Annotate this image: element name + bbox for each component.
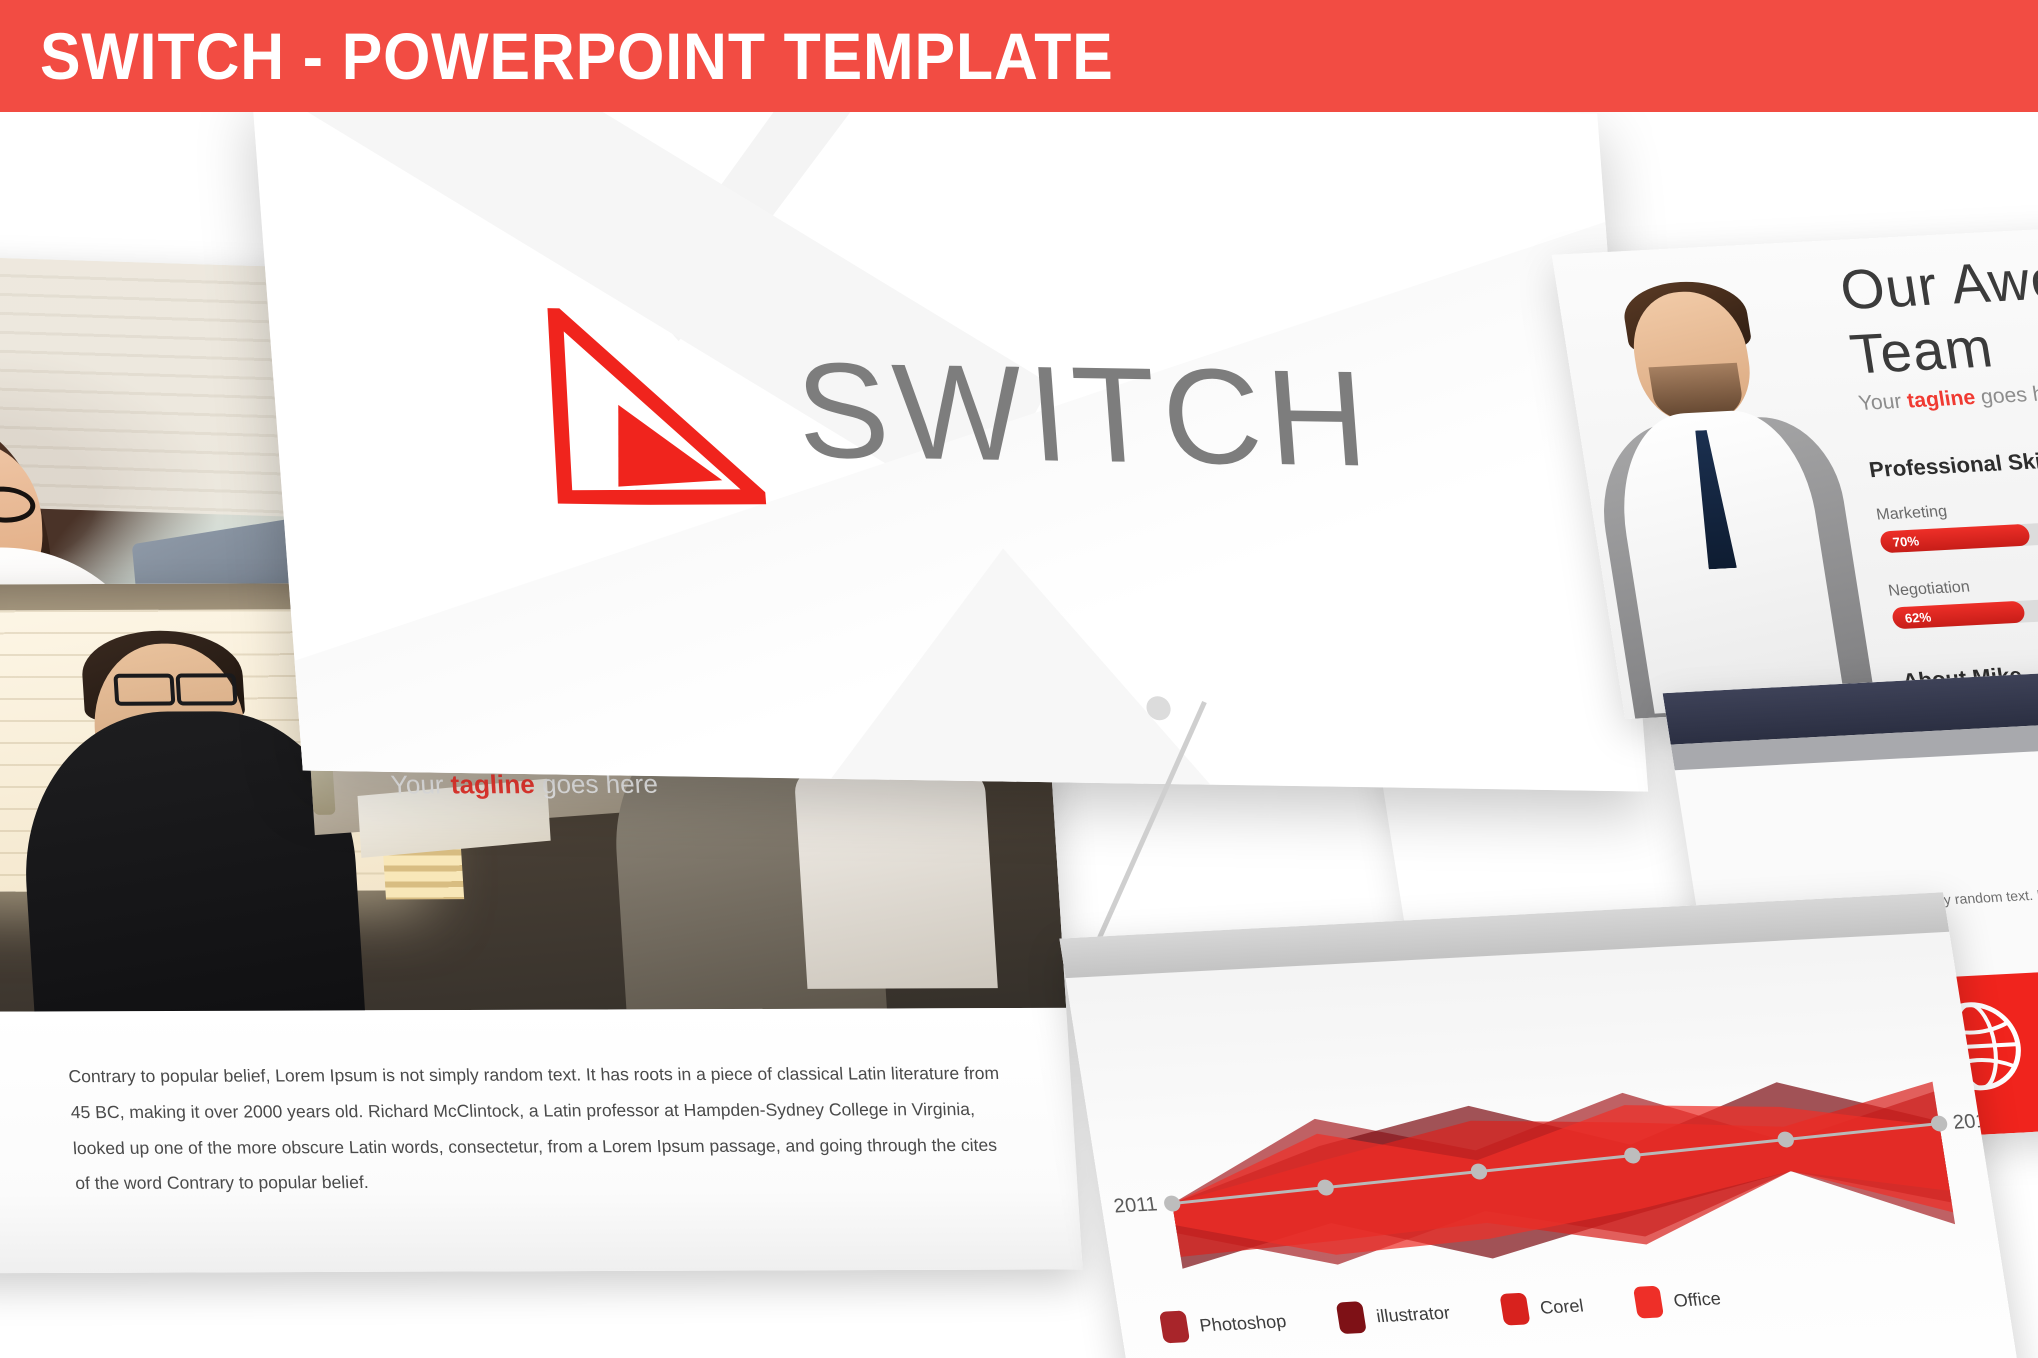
chart-legend-label: Corel: [1539, 1295, 1585, 1318]
photo-chair: [794, 769, 998, 989]
hero-logo-lockup: SWITCH: [539, 308, 1379, 516]
page-title: SWITCH - POWERPOINT TEMPLATE: [40, 18, 1114, 94]
chart-slide[interactable]: 20112016 PhotoshopillustratorCorelOffice…: [1059, 892, 2030, 1358]
photo-man-glasses: [114, 673, 244, 697]
hero-chevron-bottom: [581, 541, 1463, 791]
chart-legend-item[interactable]: Corel: [1500, 1290, 1586, 1326]
skill-label: Negotiation: [1887, 572, 2038, 601]
chart-legend-swatch: [1500, 1293, 1531, 1326]
chart-legend-label: Photoshop: [1198, 1311, 1288, 1336]
chart-legend-swatch: [1336, 1301, 1367, 1334]
team-tagline-prefix: Your: [1857, 390, 1909, 415]
team-slide-title: Our Awesome Team: [1836, 234, 2038, 387]
skill-percent: 70%: [1892, 533, 1920, 549]
skill-label: Marketing: [1875, 496, 2038, 525]
skill-row: Negotiation 62%: [1887, 572, 2038, 630]
team-skill-list: Marketing 70% Developer 52%: [1875, 483, 2038, 630]
about-tagline-prefix: Your: [390, 769, 452, 799]
chart-tick-label: 2011: [1112, 1194, 1159, 1218]
play-triangle-logo-icon: [539, 308, 767, 507]
skill-track: 62%: [1891, 596, 2038, 629]
area-chart[interactable]: 20112016: [1066, 932, 2001, 1304]
chart-legend-swatch: [1633, 1286, 1664, 1319]
team-tagline-highlight: tagline: [1905, 386, 1977, 412]
team-member-photo: [1567, 275, 1886, 719]
hero-title-slide[interactable]: SWITCH: [252, 112, 1648, 792]
header-banner: SWITCH - POWERPOINT TEMPLATE: [0, 0, 2038, 112]
chart-legend-label: illustrator: [1375, 1302, 1452, 1327]
team-skill-heading: Professional Skill: [1867, 433, 2038, 483]
team-tagline-suffix: goes here: [1973, 381, 2038, 409]
photo-woman-glasses: [0, 483, 42, 513]
services-slide-title: About Ser: [1718, 757, 2038, 844]
chart-legend-swatch: [1159, 1310, 1190, 1343]
hero-wordmark: SWITCH: [792, 342, 1377, 487]
team-slide[interactable]: 12 Our Awesome Team Your tagline goes he…: [1552, 215, 2038, 719]
skill-row: Marketing 70%: [1875, 496, 2038, 554]
chart-legend-label: Office: [1672, 1288, 1722, 1311]
skill-fill: 62%: [1891, 601, 2026, 630]
slide-showcase-stage: About Your tagline goes here Contrary to…: [0, 112, 2038, 1358]
about-slide-body: Contrary to popular belief, Lorem Ipsum …: [67, 1056, 1008, 1202]
skill-track: 70%: [1879, 520, 2038, 553]
chart-legend-item[interactable]: Office: [1633, 1283, 1723, 1319]
about-slide-caption: Contrary to popular belief, Lorem Ipsum …: [0, 1008, 1083, 1274]
area-chart-svg: 20112016: [1066, 932, 2001, 1304]
chart-legend-item[interactable]: Photoshop: [1159, 1305, 1289, 1343]
skill-fill: 70%: [1879, 524, 2031, 554]
chart-legend-item[interactable]: illustrator: [1336, 1297, 1452, 1334]
skill-percent: 62%: [1904, 609, 1932, 625]
